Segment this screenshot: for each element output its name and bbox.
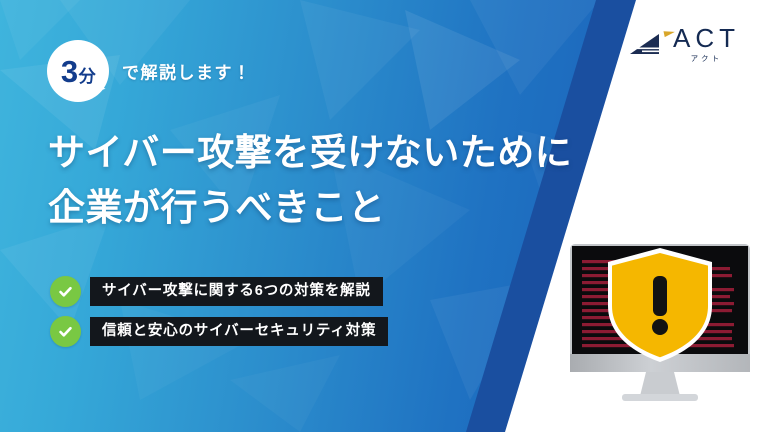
list-item: サイバー攻撃に関する6つの対策を解説 [50,276,388,307]
badge-suffix-text: で解説します！ [122,59,252,84]
duration-badge: 3分 で解説します！ [47,40,262,102]
logo-subtitle: アクト [687,55,723,63]
check-circle-icon [50,276,81,307]
badge-number: 3 [61,56,78,87]
act-logo[interactable]: ACT アクト [628,20,746,68]
check-mark-icon [57,323,74,340]
logo-word: ACT [669,25,740,51]
slide-canvas: ACT アクト 3分 で解説します！ サイバー攻撃を受けないために 企業が行うべ… [0,0,768,432]
act-triangle-mark-icon [628,30,662,58]
monitor-with-warning-shield-illustration [560,238,760,423]
headline-line-1: サイバー攻撃を受けないために [48,126,572,181]
check-mark-icon [57,283,74,300]
list-item: 信頼と安心のサイバーセキュリティ対策 [50,316,388,347]
bullet-list: サイバー攻撃に関する6つの対策を解説 信頼と安心のサイバーセキュリティ対策 [50,276,388,356]
logo-wordmark: ACT アクト [669,25,740,63]
bullet-label: サイバー攻撃に関する6つの対策を解説 [90,277,383,307]
bubble-circle: 3分 [47,40,109,102]
check-circle-icon [50,316,81,347]
headline: サイバー攻撃を受けないために 企業が行うべきこと [48,126,572,236]
badge-unit: 分 [79,68,96,85]
bubble-text: 3分 [61,56,95,87]
bullet-label: 信頼と安心のサイバーセキュリティ対策 [90,317,388,347]
headline-line-2: 企業が行うべきこと [48,181,572,236]
